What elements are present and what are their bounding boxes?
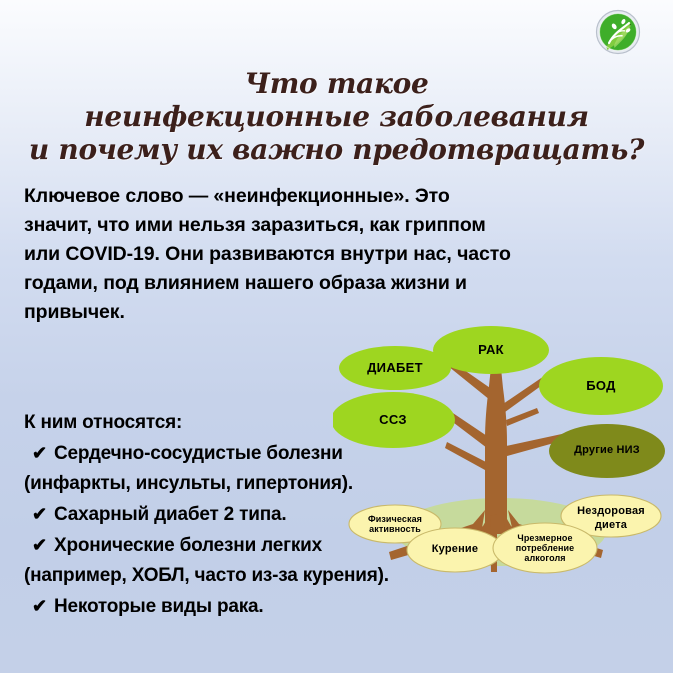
list-item-label: Некоторые виды рака. [54,596,263,617]
intro-line-1: Ключевое слово — «неинфекционные». Это [24,182,569,211]
page-title: Что такое неинфекционные заболевания и п… [0,67,673,166]
disease-list: К ним относятся: ✔Сердечно-сосудистые бо… [24,408,444,622]
list-lead-in: К ним относятся: [24,408,444,438]
crown-oval-drugie [549,424,665,478]
list-item: ✔Сердечно-сосудистые болезни [24,438,444,469]
list-item-label: Хронические болезни легких [54,535,322,556]
title-line-1: Что такое [0,67,673,100]
title-line-2: неинфекционные заболевания [0,100,673,133]
intro-line-2: значит, что ими нельзя заразиться, как г… [24,211,569,240]
crown-oval-bod [539,357,663,415]
list-item-label: Сердечно-сосудистые болезни [54,443,343,464]
infographic-poster: Что такое неинфекционные заболевания и п… [0,0,673,673]
root-oval-alkogol [493,523,597,573]
intro-line-3: или COVID-19. Они развиваются внутри нас… [24,240,569,269]
intro-paragraph: Ключевое слово — «неинфекционные». Это з… [24,182,569,327]
checkmark-icon: ✔ [32,438,54,468]
list-item: ✔Хронические болезни легких [24,530,444,561]
list-item-label: Сахарный диабет 2 типа. [54,504,286,525]
list-item-continuation: (инфаркты, инсульты, гипертония). [24,469,444,499]
checkmark-icon: ✔ [32,530,54,560]
checkmark-icon: ✔ [32,499,54,529]
list-item: ✔Некоторые виды рака. [24,591,444,622]
title-line-3: и почему их важно предотвращать? [0,133,673,166]
intro-line-4: годами, под влиянием нашего образа жизни… [24,269,569,298]
organization-logo [595,9,641,55]
list-item: ✔Сахарный диабет 2 типа. [24,499,444,530]
crown-oval-diabet [339,346,451,390]
checkmark-icon: ✔ [32,591,54,621]
green-leaf-emblem-icon [595,9,641,55]
list-item-continuation: (например, ХОБЛ, часто из-за курения). [24,561,444,591]
